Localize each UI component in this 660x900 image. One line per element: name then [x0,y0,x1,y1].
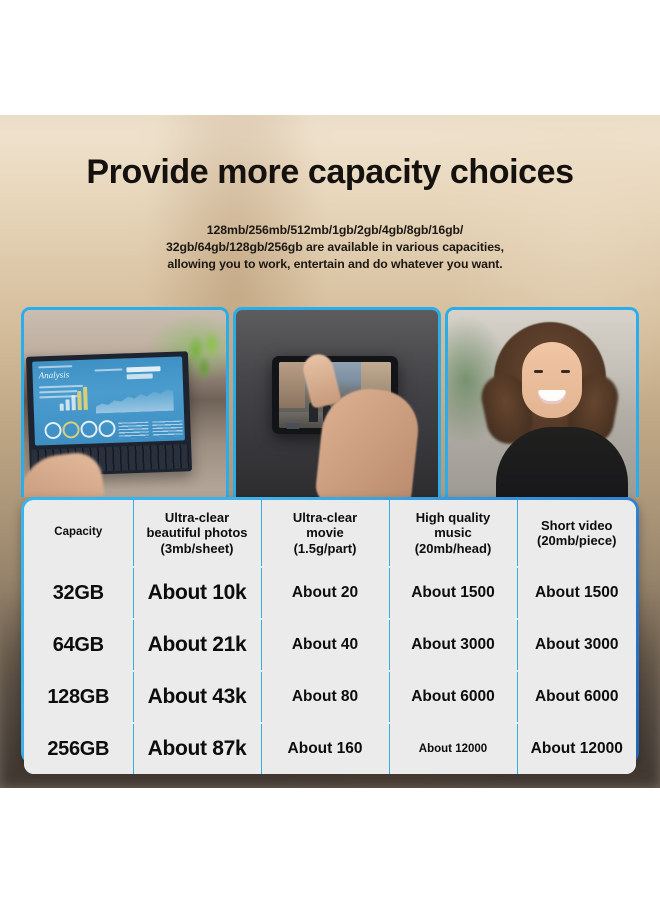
cell-music: About 3000 [389,619,517,671]
cell-movie: About 40 [261,619,389,671]
cell-photos: About 43k [133,671,261,723]
cell-video: About 1500 [517,567,636,619]
column-header-movie: Ultra-clear movie (1.5g/part) [261,500,389,567]
cell-music: About 6000 [389,671,517,723]
table-header-row: Capacity Ultra-clear beautiful photos (3… [24,500,636,567]
cell-video: About 3000 [517,619,636,671]
cell-capacity: 64GB [24,619,133,671]
capacity-table-frame: Capacity Ultra-clear beautiful photos (3… [21,497,639,765]
laptop-screen: Analysis [32,356,185,445]
table-row: 128GB About 43k About 80 About 6000 Abou… [24,671,636,723]
laptop-analytics-photo: Analysis [21,307,229,497]
cell-movie: About 80 [261,671,389,723]
cell-music: About 12000 [389,723,517,774]
promo-page: Provide more capacity choices 128mb/256m… [0,0,660,900]
smile [538,390,566,404]
table-row: 256GB About 87k About 160 About 12000 Ab… [24,723,636,774]
dashboard-title: Analysis [38,369,69,380]
cell-video: About 12000 [517,723,636,774]
cell-photos: About 87k [133,723,261,774]
cell-movie: About 160 [261,723,389,774]
column-header-short-video: Short video (20mb/piece) [517,500,636,567]
column-header-photos: Ultra-clear beautiful photos (3mb/sheet) [133,500,261,567]
cell-photos: About 21k [133,619,261,671]
cell-capacity: 32GB [24,567,133,619]
table-body: 32GB About 10k About 20 About 1500 About… [24,567,636,774]
capacity-table: Capacity Ultra-clear beautiful photos (3… [24,500,636,774]
smiling-woman-photo [445,307,639,497]
cell-photos: About 10k [133,567,261,619]
page-title: Provide more capacity choices [0,155,660,191]
cell-video: About 6000 [517,671,636,723]
cell-music: About 1500 [389,567,517,619]
cell-movie: About 20 [261,567,389,619]
face [522,342,582,418]
cell-capacity: 256GB [24,723,133,774]
column-header-capacity: Capacity [24,500,133,567]
column-header-music: High quality music (20mb/head) [389,500,517,567]
capacity-description: 128mb/256mb/512mb/1gb/2gb/4gb/8gb/16gb/ … [150,222,520,273]
photo-panel-row: Analysis [21,307,639,497]
phone-filming-street-photo [233,307,441,497]
cell-capacity: 128GB [24,671,133,723]
plant-decor [184,330,224,388]
phone-button [286,423,300,429]
table-header: Capacity Ultra-clear beautiful photos (3… [24,500,636,567]
table-row: 64GB About 21k About 40 About 3000 About… [24,619,636,671]
table-row: 32GB About 10k About 20 About 1500 About… [24,567,636,619]
